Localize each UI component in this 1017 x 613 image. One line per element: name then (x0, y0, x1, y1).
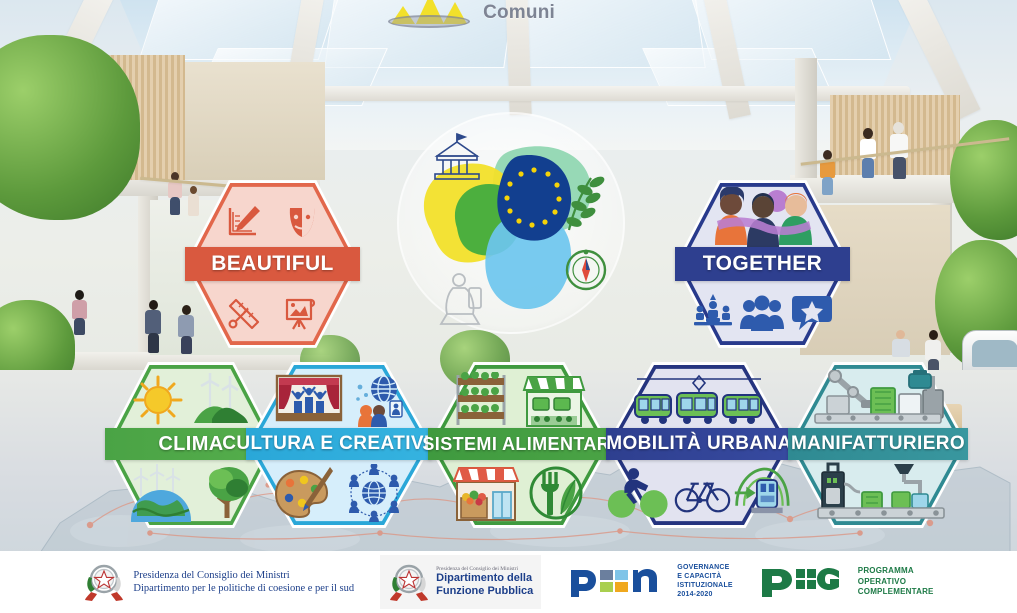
hex-card-mobilita-urbana[interactable]: MOBILITÀ URBANA (606, 360, 792, 530)
logo-text: Province & Comuni (483, 0, 658, 28)
pon-caption-line1: GOVERNANCE (677, 564, 733, 573)
easel-painting-icon (282, 294, 322, 334)
poster-canvas: Province & Comuni (0, 0, 1017, 613)
funzione-pubblica-logo: Presidenza del Consiglio dei Ministri Di… (380, 555, 541, 609)
hex-label-band-together: TOGETHER (675, 247, 850, 281)
poc-wordmark-icon (759, 565, 851, 599)
poc-caption: PROGRAMMA OPERATIVO COMPLEMENTARE (858, 566, 934, 598)
hex-label-band-beautiful: BEAUTIFUL (185, 247, 360, 281)
column (795, 58, 817, 178)
hex-card-sistemi-alimentari[interactable]: SISTEMI ALIMENTARI (428, 360, 610, 530)
sun-icon (132, 374, 184, 426)
pon-caption: GOVERNANCE E CAPACITÀ ISTITUZIONALE 2014… (677, 564, 733, 600)
hex-label: BEAUTIFUL (211, 252, 334, 276)
poc-caption-line1: PROGRAMMA (858, 566, 934, 577)
hex-card-beautiful[interactable]: BEAUTIFUL (185, 178, 360, 350)
presidenza-line2: Dipartimento per le politiche di coesion… (133, 582, 354, 595)
person (72, 290, 87, 334)
classical-statue-icon (441, 274, 481, 324)
poc-caption-line3: COMPLEMENTARE (858, 587, 934, 598)
hex-label-band-manifatturiero: MANIFATTURIERO (788, 428, 968, 460)
compass-icon (567, 250, 605, 289)
earth-with-turbines-icon (127, 464, 201, 522)
hex-label-band-cultura: CULTURA E CREATIVITÀ (246, 428, 432, 460)
factory-conveyor-icon (808, 462, 948, 522)
yellow-peaks-dish-logo-icon (383, 0, 473, 28)
central-blob-emblem (395, 112, 627, 334)
province-comuni-logo: Province & Comuni (383, 0, 658, 28)
pon-logo: GOVERNANCE E CAPACITÀ ISTITUZIONALE 2014… (567, 564, 733, 600)
hex-label: TOGETHER (703, 252, 823, 276)
wind-turbines-hill-icon (190, 373, 250, 427)
hex-label: CULTURA E CREATIVITÀ (222, 433, 456, 455)
funzione-pubblica-text: Presidenza del Consiglio dei Ministri Di… (436, 566, 533, 598)
funzione-pubblica-line2: Funzione Pubblica (436, 585, 533, 598)
star-speech-bubble-icon (790, 291, 834, 333)
shuttle-window (972, 340, 1017, 367)
three-people-hugging-illustration (703, 187, 823, 249)
italian-republic-emblem-icon (388, 559, 430, 605)
paint-palette-icon (273, 465, 335, 521)
hex-icons-bottom (788, 462, 968, 522)
metro-tunnel-icon (733, 463, 792, 521)
hex-icons-top (428, 372, 610, 428)
globe-people-icon (352, 373, 404, 427)
poc-logo: PROGRAMMA OPERATIVO COMPLEMENTARE (759, 565, 934, 599)
wall-panel-left (185, 62, 325, 180)
hex-label: MANIFATTURIERO (791, 433, 965, 455)
pon-caption-line4: 2014-2020 (677, 591, 733, 600)
pon-caption-line3: ISTITUZIONALE (677, 582, 733, 591)
hex-icons-bottom (428, 464, 610, 522)
tram-icon (629, 371, 769, 427)
hex-icons-bottom (246, 464, 432, 522)
globe-network-icon (343, 464, 405, 522)
footer-logo-bar: Presidenza del Consiglio dei Ministri Di… (0, 551, 1017, 613)
hex-label: MOBILITÀ URBANA (606, 433, 791, 455)
pon-wordmark-icon (567, 565, 671, 599)
person (145, 300, 161, 352)
funzione-pubblica-line1: Dipartimento della (436, 572, 533, 585)
italian-republic-emblem-icon (83, 559, 125, 605)
market-stall-icon (521, 372, 587, 428)
hex-icons-top (788, 370, 968, 428)
hex-card-together[interactable]: TOGETHER (675, 178, 850, 350)
presidenza-line1: Presidenza del Consiglio dei Ministri (133, 569, 354, 582)
ruler-pencil-icon (224, 202, 264, 242)
poc-caption-line2: OPERATIVO (858, 577, 934, 588)
vertical-farm-rack-icon (451, 372, 511, 428)
hex-label-band-sistemi: SISTEMI ALIMENTARI (428, 428, 610, 460)
hex-icons-top (246, 372, 432, 428)
hex-icons-top (606, 370, 792, 428)
cyclist-icon (606, 463, 672, 521)
hex-icons-bottom (185, 288, 360, 340)
robotic-arm-icon (809, 370, 947, 428)
leadership-podium-icon (692, 291, 734, 333)
hex-card-cultura-e-creativita[interactable]: CULTURA E CREATIVITÀ (246, 360, 432, 530)
hex-label-band-mobilita: MOBILITÀ URBANA (606, 428, 792, 460)
hex-label: CLIMA (158, 433, 223, 456)
bicycle-icon (674, 469, 731, 515)
theater-stage-icon (274, 373, 344, 427)
ruler-scissors-icon (224, 294, 264, 334)
theater-masks-icon (282, 202, 322, 242)
hex-icons-bottom (675, 285, 850, 339)
person (168, 172, 182, 214)
fork-leaf-icon (527, 464, 585, 522)
presidenza-logo: Presidenza del Consiglio dei Ministri Di… (83, 559, 354, 605)
hex-label: SISTEMI ALIMENTARI (422, 434, 615, 455)
fruit-stand-icon (453, 464, 519, 522)
hex-card-manifatturiero[interactable]: MANIFATTURIERO (788, 360, 968, 530)
presidenza-text: Presidenza del Consiglio dei Ministri Di… (133, 569, 354, 596)
hex-icons-bottom (606, 462, 792, 522)
group-of-people-icon (738, 289, 786, 335)
hex-icons-top (675, 188, 850, 248)
hex-icons-top (185, 196, 360, 248)
pon-caption-line2: E CAPACITÀ (677, 573, 733, 582)
